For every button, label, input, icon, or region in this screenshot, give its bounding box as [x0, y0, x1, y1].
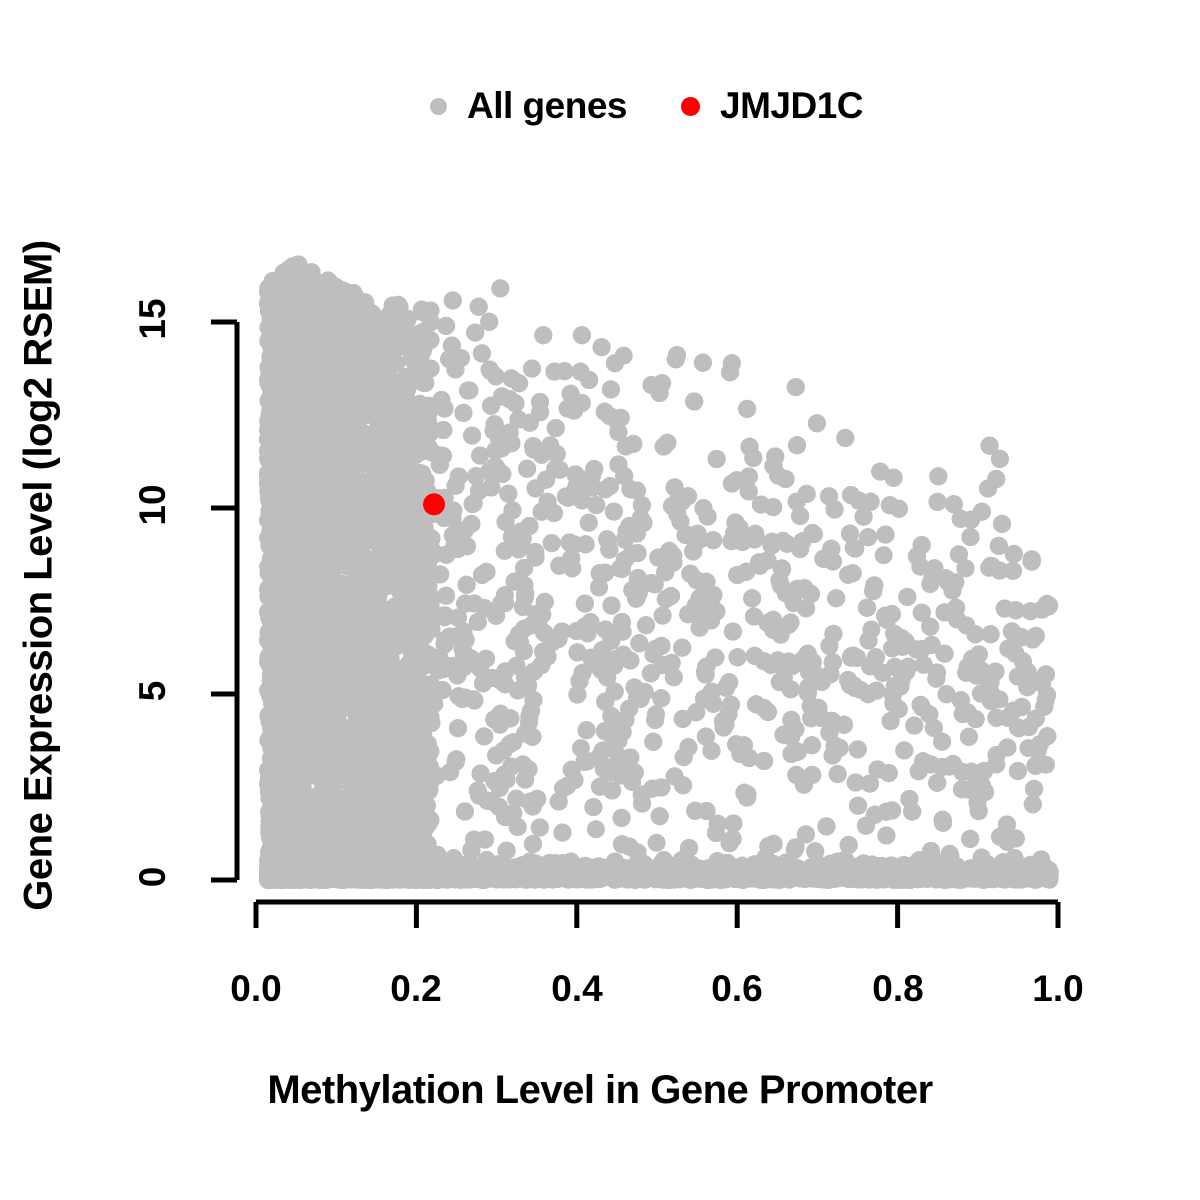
y-tick-label-3: 15: [132, 259, 174, 379]
scatter-plot-figure: All genes JMJD1C 0.0 0.2 0.4 0.6 0.8 1.0…: [0, 0, 1200, 1200]
x-tick-label-5: 1.0: [998, 968, 1118, 1010]
x-tick-label-0: 0.0: [196, 968, 316, 1010]
x-axis-line: [256, 902, 1058, 928]
data-points-layer: [259, 256, 1059, 890]
y-axis-line: [211, 322, 237, 880]
y-tick-label-0: 0: [132, 817, 174, 937]
y-axis-title: Gene Expression Level (log2 RSEM): [17, 146, 62, 1006]
plot-canvas: [0, 0, 1200, 1200]
x-axis-title: Methylation Level in Gene Promoter: [0, 1068, 1200, 1113]
x-tick-label-4: 0.8: [838, 968, 958, 1010]
x-tick-label-2: 0.4: [517, 968, 637, 1010]
y-tick-label-1: 5: [132, 631, 174, 751]
highlight-point-jmjd1c: [423, 493, 445, 515]
x-tick-label-3: 0.6: [677, 968, 797, 1010]
y-tick-label-2: 10: [132, 445, 174, 565]
x-tick-label-1: 0.2: [356, 968, 476, 1010]
